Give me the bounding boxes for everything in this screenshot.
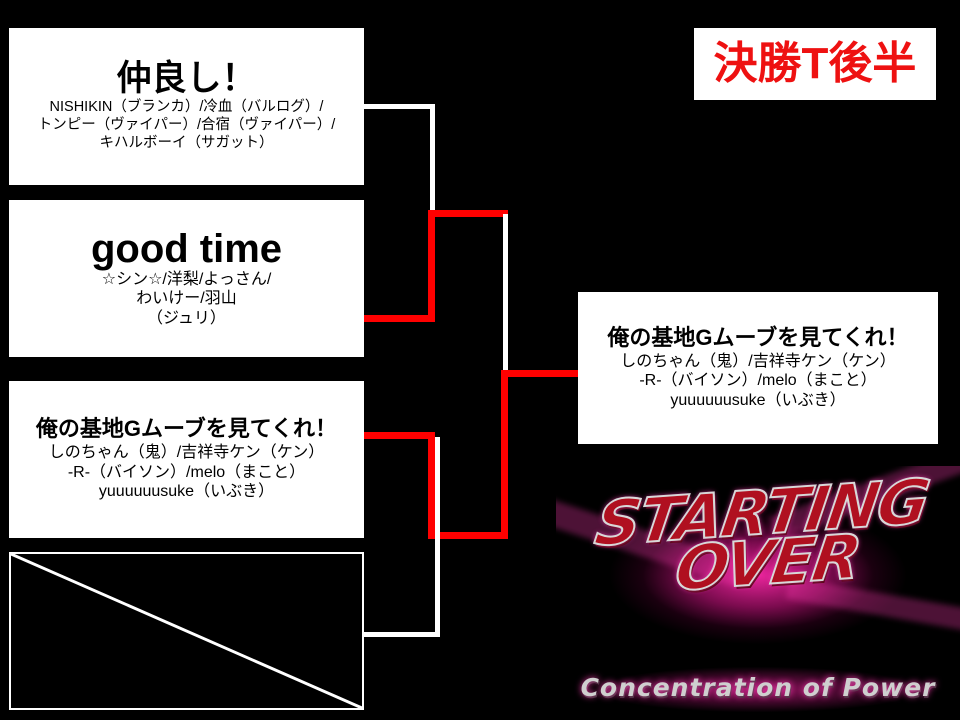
connector-centre-spine-red — [501, 370, 508, 539]
connector-final-feed — [501, 370, 579, 377]
empty-slot-diagonal-icon — [11, 554, 362, 708]
connector-box3-stub — [364, 432, 435, 439]
connector-box1-vertical — [430, 104, 435, 214]
connector-box2-stub — [364, 315, 435, 322]
bracket-team-box-3[interactable]: 俺の基地Gムーブを見てくれ！ しのちゃん（鬼）/吉祥寺ケン（ケン） -R-（バイ… — [9, 381, 364, 538]
connector-bye-stub — [364, 632, 440, 637]
bracket-team-box-2[interactable]: good time ☆シン☆/洋梨/よっさん/ わいけー/羽山 （ジュリ） — [9, 200, 364, 357]
page-title: 決勝T後半 — [714, 42, 917, 86]
connector-bye-vertical — [435, 437, 440, 637]
connector-box3-vertical — [428, 432, 435, 539]
connector-box2-vertical — [428, 210, 435, 322]
team-members-3: しのちゃん（鬼）/吉祥寺ケン（ケン） -R-（バイソン）/melo（まこと） y… — [49, 443, 325, 502]
team-members-2: ☆シン☆/洋梨/よっさん/ わいけー/羽山 （ジュリ） — [102, 270, 272, 329]
event-logo: STARTING OVER Concentration of Power — [556, 466, 960, 720]
team-name-1: 仲良し！ — [116, 61, 256, 98]
connector-semifinal1-horizontal — [428, 210, 508, 217]
page-title-banner: 決勝T後半 — [694, 28, 936, 100]
team-members-1: NISHIKIN（ブランカ）/冷血（バルログ）/ トンピー（ヴァイパー）/合宿（… — [38, 99, 335, 152]
connector-semifinal2-horizontal — [428, 532, 508, 539]
bracket-empty-slot-box[interactable] — [9, 552, 364, 710]
bracket-canvas: 仲良し！ NISHIKIN（ブランカ）/冷血（バルログ）/ トンピー（ヴァイパー… — [0, 0, 960, 720]
logo-tagline: Concentration of Power — [556, 673, 960, 702]
bracket-team-box-1[interactable]: 仲良し！ NISHIKIN（ブランカ）/冷血（バルログ）/ トンピー（ヴァイパー… — [9, 28, 364, 185]
connector-box1-stub — [364, 104, 435, 109]
team-name-3: 俺の基地Gムーブを見てくれ！ — [36, 417, 337, 440]
connector-centre-spine-white — [503, 214, 508, 374]
winner-team-members: しのちゃん（鬼）/吉祥寺ケン（ケン） -R-（バイソン）/melo（まこと） y… — [620, 352, 896, 411]
winner-team-name: 俺の基地Gムーブを見てくれ！ — [607, 326, 908, 349]
bracket-final-winner-box[interactable]: 俺の基地Gムーブを見てくれ！ しのちゃん（鬼）/吉祥寺ケン（ケン） -R-（バイ… — [578, 292, 938, 444]
team-name-2: good time — [91, 229, 282, 269]
